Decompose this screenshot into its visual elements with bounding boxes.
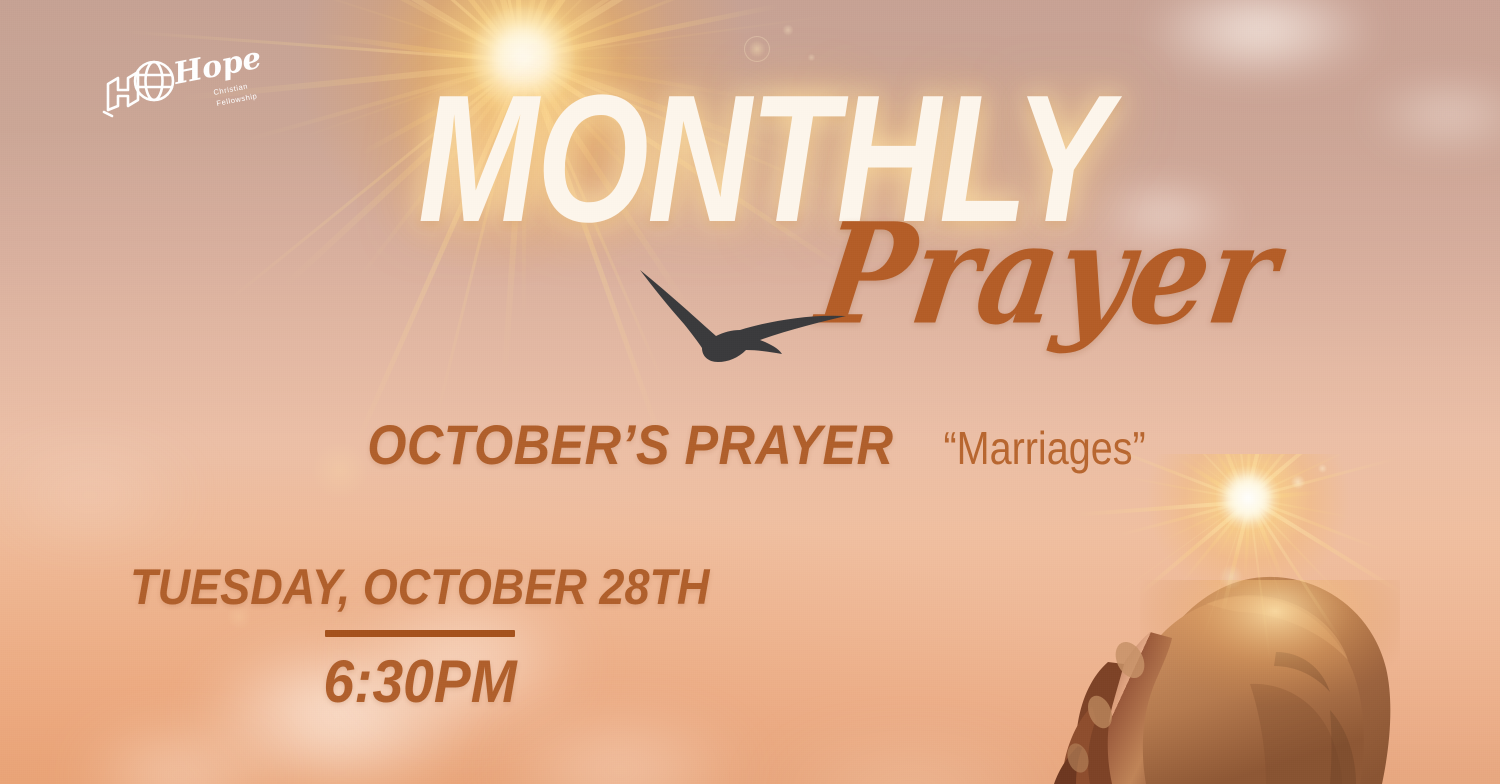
sun-ray	[366, 0, 523, 60]
praying-hands-photo	[1030, 454, 1500, 784]
date-time-block: TUESDAY, OCTOBER 28TH 6:30PM	[0, 558, 840, 716]
sun-ray	[417, 0, 523, 63]
event-date: TUESDAY, OCTOBER 28TH	[130, 558, 709, 616]
logo-wordmark: Hope	[170, 48, 264, 92]
divider	[325, 630, 515, 637]
cloud-shape	[1330, 60, 1500, 170]
sun-ray	[523, 14, 835, 59]
sun-ray	[519, 0, 591, 60]
sun-ray	[248, 0, 523, 64]
globe-cross-book-icon	[104, 62, 173, 116]
sun-ray	[521, 0, 563, 59]
sun-ray	[381, 0, 523, 62]
event-time: 6:30PM	[323, 647, 516, 716]
sun-ray	[433, 0, 523, 60]
sun-ray	[520, 0, 624, 60]
hope-christian-fellowship-logo: Hope Christian Fellowship	[98, 48, 273, 120]
seagull-silhouette-icon	[620, 262, 870, 382]
cloud-shape	[1095, 0, 1425, 100]
sun-ray	[383, 0, 523, 64]
sun-ray	[519, 0, 665, 61]
sun-ray	[520, 0, 870, 61]
theme-title: OCTOBER’S PRAYER	[367, 412, 893, 477]
lens-flare-orb	[780, 22, 796, 38]
headline-prayer-script: Prayer	[810, 206, 1285, 345]
sun-ray	[522, 3, 780, 60]
sun-ray	[280, 0, 523, 61]
sun-ray	[521, 0, 813, 60]
sun-ray	[517, 0, 667, 61]
sun-ray	[522, 0, 718, 60]
sun-ray	[522, 0, 736, 59]
flyer-canvas: Hope Christian Fellowship MONTHLY Prayer…	[0, 0, 1500, 784]
sun-ray	[511, 0, 523, 61]
